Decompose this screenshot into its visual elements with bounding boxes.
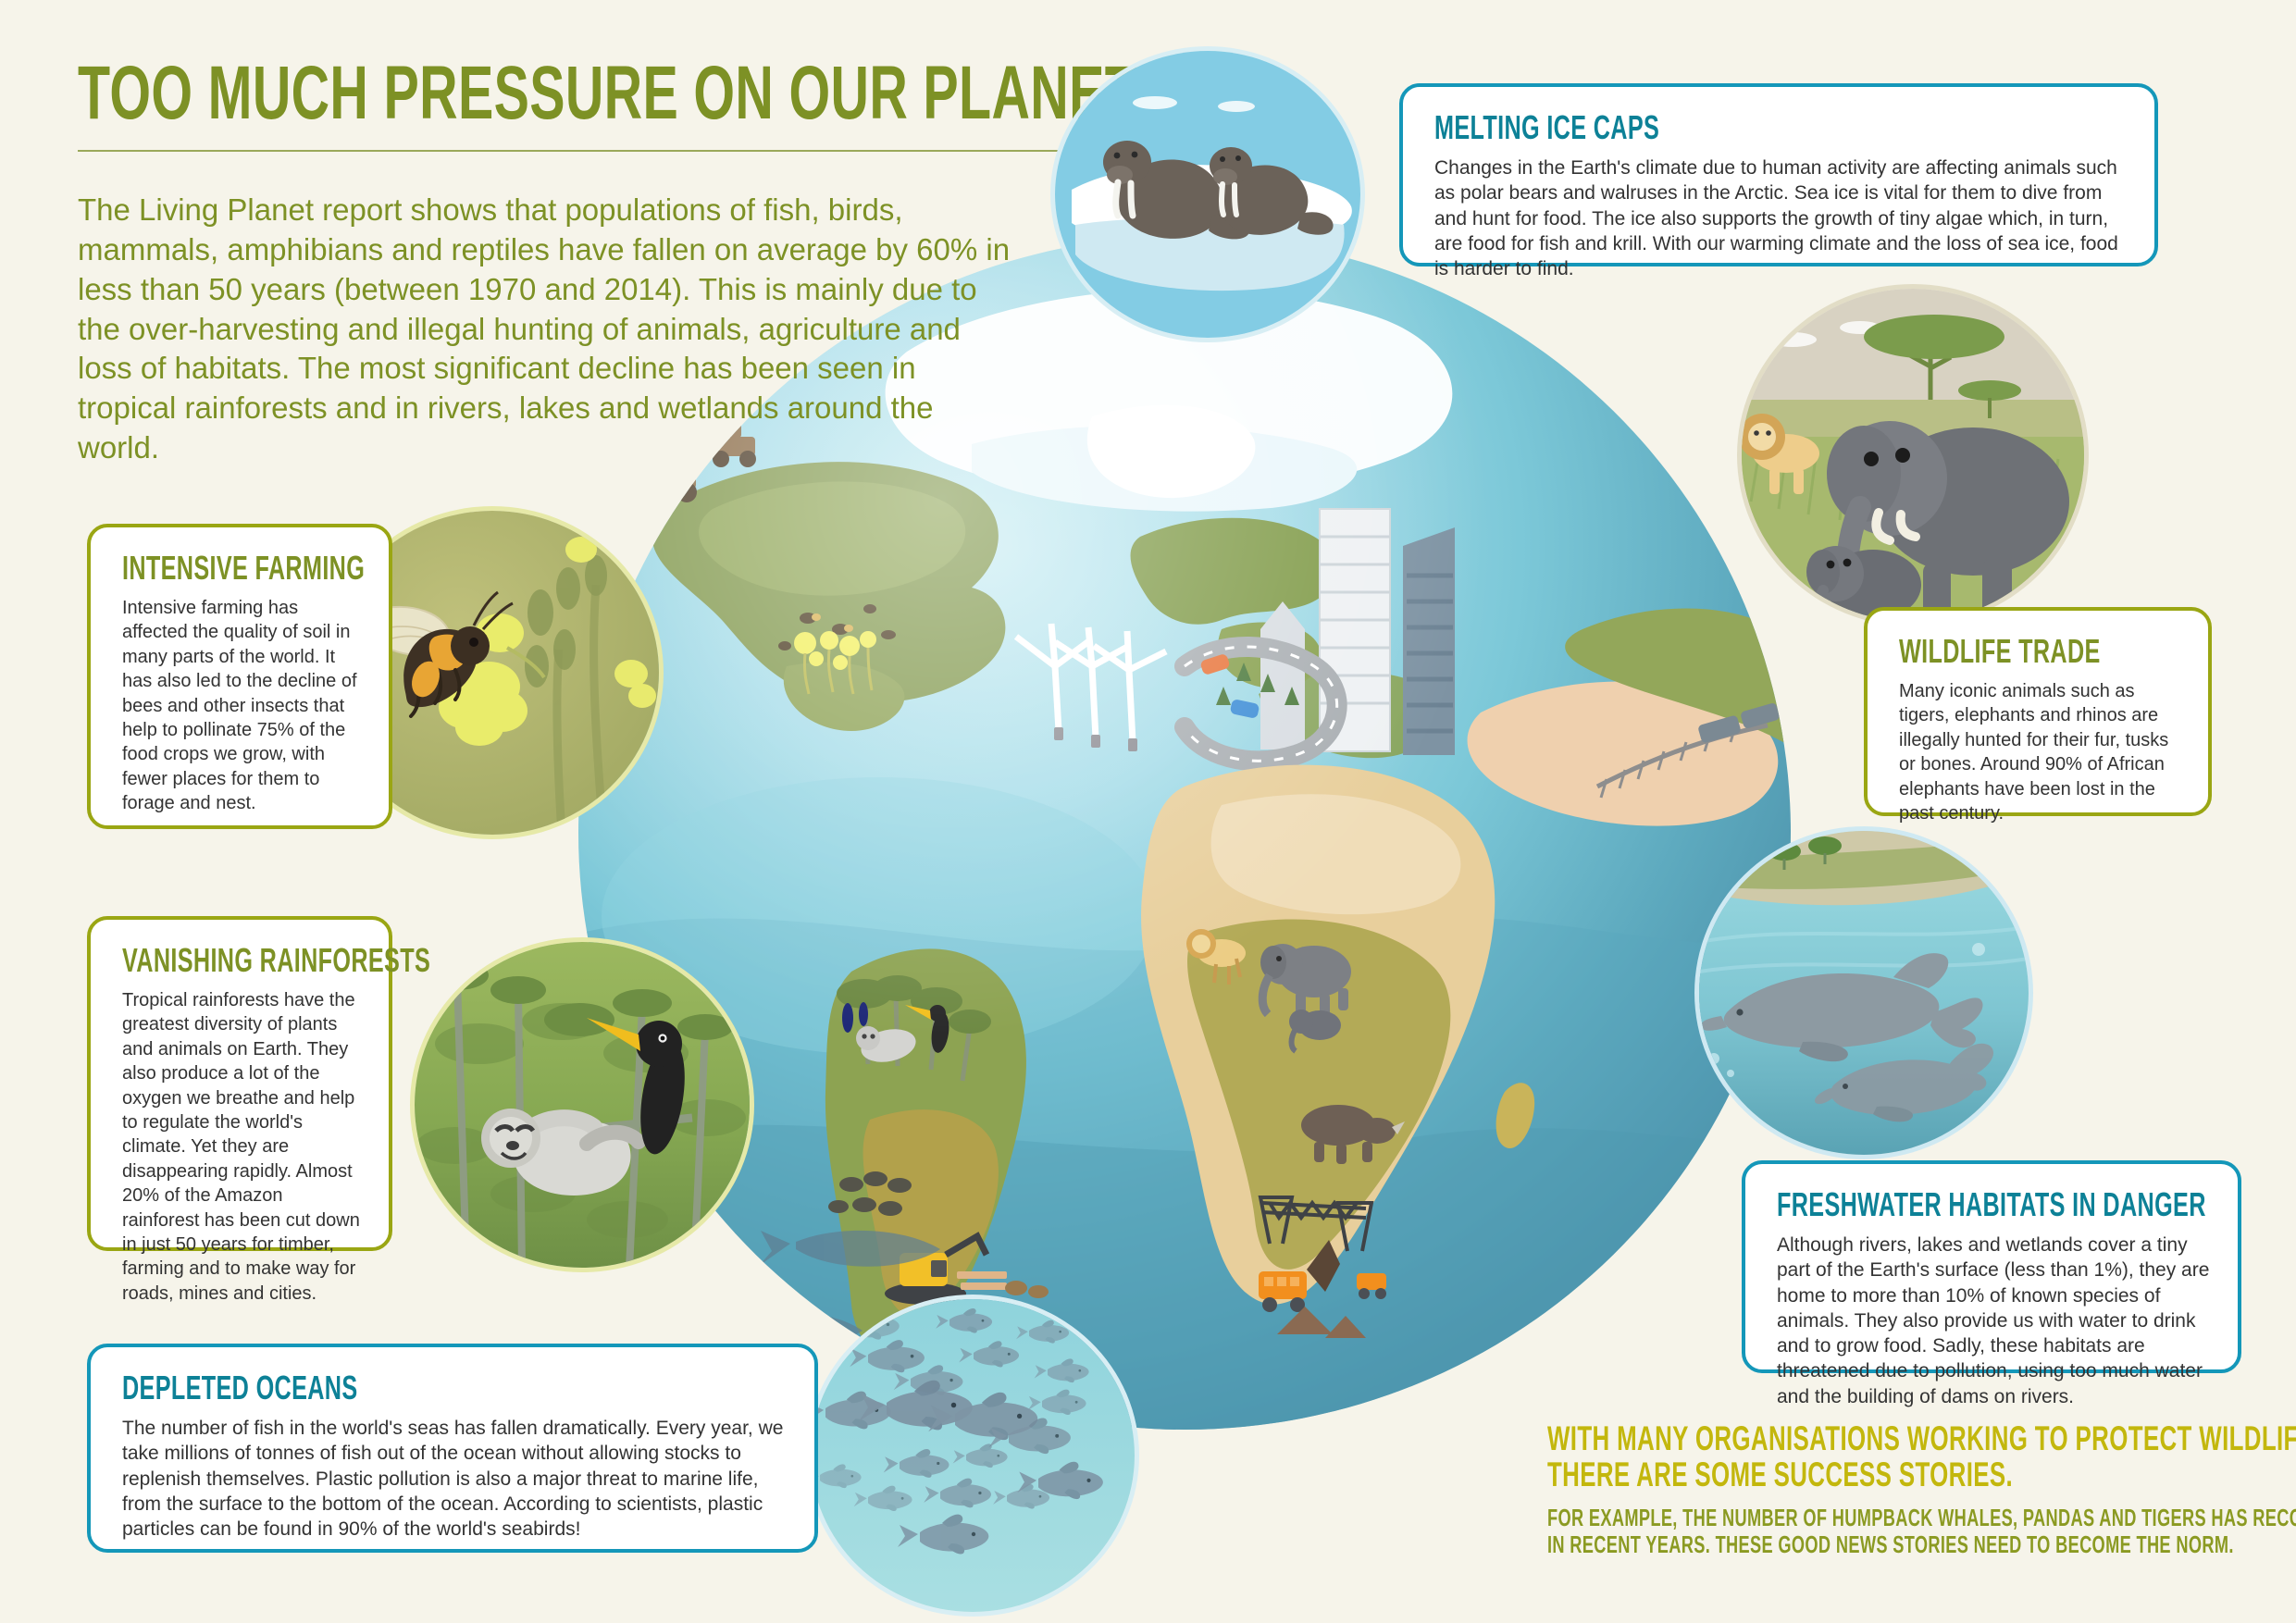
- savanna-elephant-circle: [1742, 289, 2084, 622]
- fish-school-illustration: [811, 1299, 1135, 1612]
- card-title: DEPLETED OCEANS: [122, 1371, 588, 1405]
- footer-headline-line1: WITH MANY ORGANISATIONS WORKING TO PROTE…: [1547, 1421, 2040, 1457]
- card-body: Many iconic animals such as tigers, elep…: [1899, 679, 2180, 825]
- river-dolphin-circle: [1699, 831, 2029, 1155]
- footer-sub-line2: IN RECENT YEARS. THESE GOOD NEWS STORIES…: [1547, 1531, 2040, 1558]
- card-body: Intensive farming has affected the quali…: [122, 596, 361, 816]
- card-title: MELTING ICE CAPS: [1434, 111, 1919, 144]
- intro-paragraph: The Living Planet report shows that popu…: [78, 191, 1012, 468]
- walrus-illustration: [1055, 51, 1360, 338]
- ocean-fish-circle: [811, 1299, 1135, 1612]
- footer-subtext: FOR EXAMPLE, THE NUMBER OF HUMPBACK WHAL…: [1547, 1505, 2251, 1558]
- footer-block: WITH MANY ORGANISATIONS WORKING TO PROTE…: [1547, 1421, 2251, 1558]
- card-melting-ice-caps: MELTING ICE CAPS Changes in the Earth's …: [1399, 83, 2158, 266]
- title-block: TOO MUCH PRESSURE ON OUR PLANET The Livi…: [78, 57, 1114, 468]
- rainforest-sloth-circle: [415, 942, 750, 1268]
- card-body: Changes in the Earth's climate due to hu…: [1434, 155, 2127, 281]
- card-intensive-farming: INTENSIVE FARMING Intensive farming has …: [87, 524, 392, 829]
- rainforest-illustration: [415, 942, 750, 1268]
- infographic-canvas: TOO MUCH PRESSURE ON OUR PLANET The Livi…: [0, 0, 2296, 1623]
- card-title: INTENSIVE FARMING: [122, 551, 290, 585]
- savanna-illustration: [1742, 289, 2084, 622]
- card-title: FRESHWATER HABITATS IN DANGER: [1777, 1188, 2080, 1221]
- footer-headline: WITH MANY ORGANISATIONS WORKING TO PROTE…: [1547, 1421, 2251, 1493]
- card-vanishing-rainforests: VANISHING RAINFORESTS Tropical rainfores…: [87, 916, 392, 1251]
- card-body: The number of fish in the world's seas h…: [122, 1416, 787, 1542]
- arctic-walrus-circle: [1055, 51, 1360, 338]
- footer-headline-line2: THERE ARE SOME SUCCESS STORIES.: [1547, 1457, 2040, 1493]
- card-body: Although rivers, lakes and wetlands cove…: [1777, 1233, 2210, 1409]
- footer-sub-line1: FOR EXAMPLE, THE NUMBER OF HUMPBACK WHAL…: [1547, 1505, 2040, 1531]
- card-title: WILDLIFE TRADE: [1899, 635, 2096, 668]
- title-divider: [78, 150, 1059, 152]
- card-freshwater-habitats: FRESHWATER HABITATS IN DANGER Although r…: [1742, 1160, 2241, 1373]
- river-dolphin-illustration: [1699, 831, 2029, 1155]
- card-wildlife-trade: WILDLIFE TRADE Many iconic animals such …: [1864, 607, 2212, 816]
- card-body: Tropical rainforests have the greatest d…: [122, 988, 361, 1306]
- page-title: TOO MUCH PRESSURE ON OUR PLANET: [78, 57, 803, 130]
- card-depleted-oceans: DEPLETED OCEANS The number of fish in th…: [87, 1344, 818, 1553]
- card-title: VANISHING RAINFORESTS: [122, 944, 290, 977]
